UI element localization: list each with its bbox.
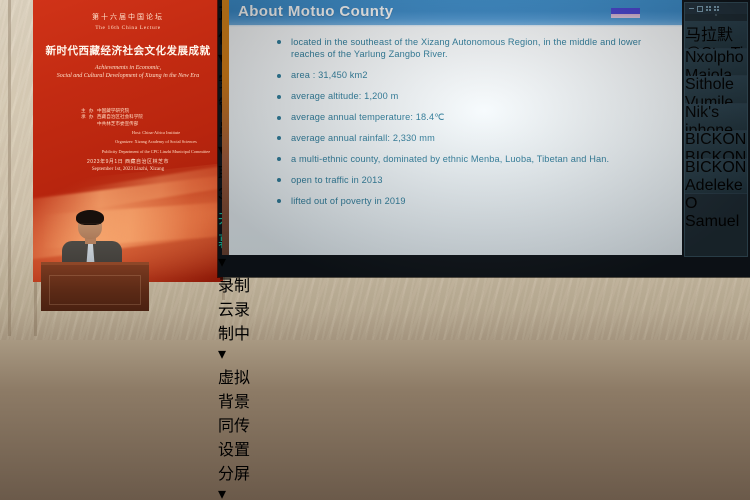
slide-bullet: lifted out of poverty in 2019 [277, 195, 669, 207]
backdrop-text-block: 第十六届中国论坛 The 16th China Lecture 新时代西藏经济社… [33, 0, 223, 79]
roster-scroll-up-icon[interactable]: ⌃ [685, 14, 747, 21]
participant-tile[interactable]: 马拉默 @StarTi... 马拉默@StarTimes [685, 21, 747, 49]
slide-bullet: a multi-ethnic county, dominated by ethn… [277, 153, 669, 165]
slide-bullet: located in the southeast of the Xizang A… [277, 36, 669, 61]
organizer-label-cn: 承 办 [81, 114, 97, 120]
lecture-series-cn: 第十六届中国论坛 [33, 12, 223, 22]
slide-accent-bar [222, 0, 229, 255]
speaker-glasses [80, 223, 101, 229]
roster-window-controls[interactable] [685, 3, 747, 14]
toolbar-label: 录制 [218, 272, 258, 296]
toolbar-button-record[interactable]: 录制 [218, 272, 258, 296]
minimize-icon[interactable] [689, 8, 694, 9]
participant-tile[interactable]: Sithole Vumile Sithole Vumile [685, 76, 747, 104]
tile-view-icon[interactable] [714, 6, 719, 11]
event-title-en-line1: Achievements in Economic, [33, 65, 223, 71]
participant-video-thumbnail[interactable]: BICKONLINE [685, 159, 747, 177]
organizer-en: Organizer: Xizang Academy of Social Scie… [81, 139, 223, 145]
chevron-down-icon[interactable]: ▾ [218, 486, 226, 500]
host-en: Host: China-Africa Institute [81, 130, 223, 136]
toolbar-label: 分屏 [218, 460, 260, 484]
toolbar-label: 云录制中 [218, 296, 264, 344]
participant-name: BICKONLINE... [685, 131, 747, 149]
slide-bullet: average altitude: 1,200 m [277, 90, 669, 102]
maximize-icon[interactable] [697, 6, 703, 12]
presentation-slide: About Motuo County located in the southe… [222, 0, 682, 255]
slide-bullet: average annual temperature: 18.4℃ [277, 111, 669, 123]
participant-badge: BICKONLINE [685, 159, 747, 177]
participant-footer-name: Adeleke O Samuel [685, 177, 743, 230]
projector-screen: About Motuo County located in the southe… [218, 0, 750, 277]
slide-bullet: area : 31,450 km2 [277, 69, 669, 81]
publicity-en: Publicity Department of the CPC Linzhi M… [81, 149, 223, 155]
toolbar-label: 同传 [218, 412, 258, 436]
audience-table [0, 442, 160, 458]
participant-footer: Adeleke O Samuel [685, 177, 747, 231]
organizer-value-cn-2: 中共林芝市委宣传部 [81, 121, 223, 127]
participant-tile[interactable]: BICKONLINE... BICKONLINEtech [685, 131, 747, 159]
event-title-cn: 新时代西藏经济社会文化发展成就 [33, 43, 223, 58]
lecture-series-en: The 16th China Lecture [33, 25, 223, 31]
screenshot-root: 第十六届中国论坛 The 16th China Lecture 新时代西藏经济社… [0, 0, 750, 500]
event-date-cn: 2023年9月1日 西藏自治区林芝市 [33, 158, 223, 165]
slide-bullet-list: located in the southeast of the Xizang A… [277, 36, 669, 216]
toolbar-button-apps[interactable]: 虚拟背景 [218, 364, 262, 412]
toolbar-button-expand[interactable]: 分屏 ▾ [218, 460, 260, 500]
chevron-down-icon[interactable]: ▾ [218, 346, 226, 363]
toolbar-label: 虚拟背景 [218, 364, 262, 412]
slide-bullet: average annual rainfall: 2,330 mm [277, 132, 669, 144]
toolbar-label: 设置 [218, 436, 258, 460]
organizer-block: 主 办 中国藏学研究院 承 办 西藏自治区社会科学院 中共林芝市委宣传部 Hos… [81, 108, 223, 155]
participant-roster-panel[interactable]: ⌃ 马拉默 @StarTi... 马拉默@StarTimes Nxolpho M… [684, 2, 748, 257]
event-date-en: September 1st, 2023 Linzhi, Xizang [33, 167, 223, 172]
podium [41, 262, 149, 311]
toolbar-button-whiteboard[interactable]: 云录制中 ▾ [218, 296, 264, 364]
toolbar-button-interpretation[interactable]: 同传 [218, 412, 258, 436]
audience-table [0, 426, 140, 442]
participant-tile[interactable]: Nik's iphone Nik's iphone [685, 104, 747, 132]
purple-artifact-chip [611, 8, 640, 18]
slide-title-fade [229, 23, 682, 27]
participant-tile-active-video[interactable]: BICKONLINE Adeleke O Samuel [685, 159, 747, 194]
slide-bullet: open to traffic in 2013 [277, 174, 669, 186]
chevron-down-icon[interactable]: ▾ [218, 254, 226, 271]
organizer-value-cn-1: 西藏自治区社会科学院 [97, 114, 223, 120]
slide-title: About Motuo County [238, 3, 394, 20]
wall-seam [8, 0, 11, 336]
event-title-en-line2: Social and Cultural Development of Xizan… [33, 73, 223, 79]
toolbar-button-settings[interactable]: 设置 [218, 436, 258, 460]
event-date-block: 2023年9月1日 西藏自治区林芝市 September 1st, 2023 L… [33, 158, 223, 172]
participant-tile[interactable]: Nxolpho Majola nxolpho Majola [685, 49, 747, 77]
grid-view-icon[interactable] [706, 6, 711, 11]
